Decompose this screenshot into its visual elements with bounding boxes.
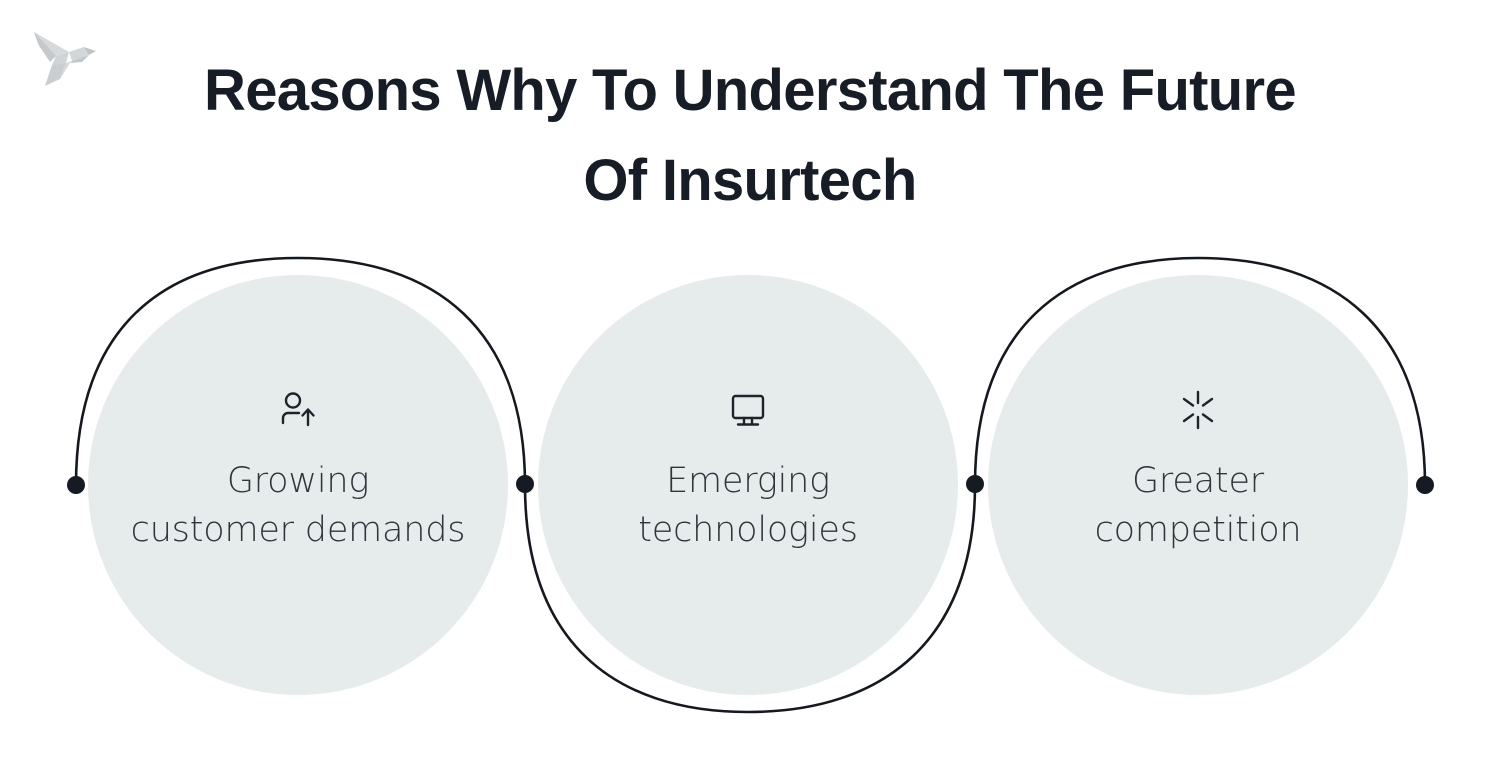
connector-dot [1416,476,1434,494]
connector-dot [966,475,984,493]
burst-spark-icon [1175,387,1221,433]
reason-node-label-line-1: Greater [1018,457,1378,506]
person-arrow-up-icon [275,387,321,433]
reason-node-label: Emerging technologies [568,457,928,555]
page-title-line-2: Of Insurtech [150,136,1350,226]
desktop-monitor-icon [725,387,771,433]
reason-node-label-line-2: competition [1018,506,1378,555]
reason-node-label: Growing customer demands [118,457,478,555]
reason-node-emerging-technologies[interactable]: Emerging technologies [538,275,958,695]
reason-node-greater-competition[interactable]: Greater competition [988,275,1408,695]
reason-node-label-line-1: Growing [118,457,478,506]
infographic-canvas: Reasons Why To Understand The Future Of … [0,0,1500,770]
origami-bird-logo [26,22,112,90]
reason-node-label: Greater competition [1018,457,1378,555]
reason-node-label-line-2: customer demands [118,506,478,555]
page-title-line-1: Reasons Why To Understand The Future [150,46,1350,136]
connector-dot [67,476,85,494]
reason-node-label-line-1: Emerging [568,457,928,506]
page-title: Reasons Why To Understand The Future Of … [150,46,1350,226]
reason-node-label-line-2: technologies [568,506,928,555]
connector-dot [516,475,534,493]
reason-node-growing-customer-demands[interactable]: Growing customer demands [88,275,508,695]
